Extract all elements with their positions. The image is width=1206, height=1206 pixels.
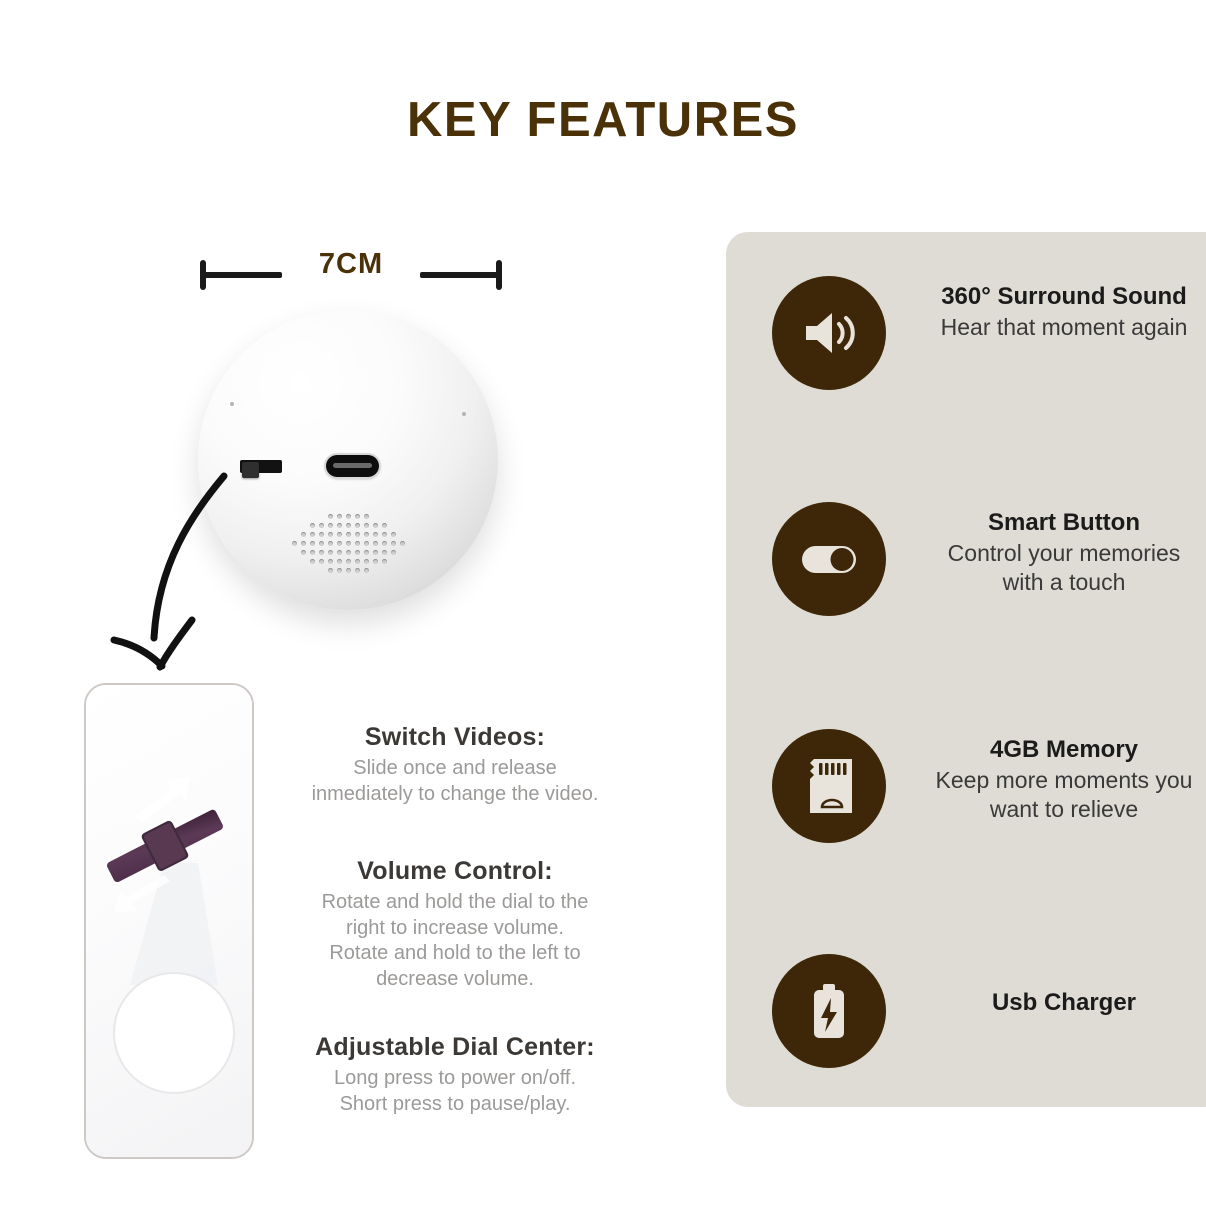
feature-subtitle: Hear that moment again [902,313,1206,342]
instruction-block-adjustable-dial-center: Adjustable Dial Center: Long press to po… [255,1033,655,1117]
feature-row: 4GB Memory Keep more moments youwant to … [772,729,1206,849]
speaker-grille [290,512,406,574]
feature-title: Usb Charger [902,988,1206,1018]
slider-closeup-photo [84,683,254,1159]
screw-pin-right [462,412,466,416]
speaker-sound-icon [772,276,886,390]
toggle-switch-icon [772,502,886,616]
usb-c-port [326,455,379,477]
instruction-body: Rotate and hold the dial to theright to … [255,890,655,992]
sd-card-icon [772,729,886,843]
dimension-indicator: 7CM [196,248,506,300]
instruction-title: Switch Videos: [255,723,655,752]
page-title: KEY FEATURES [0,92,1206,148]
dimension-cap-right [496,260,502,290]
instruction-block-switch-videos: Switch Videos: Slide once and releaseinm… [255,723,655,807]
feature-title: 4GB Memory [902,735,1206,765]
dimension-bar-left [204,272,282,278]
instruction-body: Slide once and releaseinmediately to cha… [255,756,655,807]
feature-title: Smart Button [902,508,1206,538]
feature-card: 360° Surround Sound Hear that moment aga… [726,232,1206,1107]
instruction-title: Volume Control: [255,857,655,886]
battery-charge-icon [772,954,886,1068]
feature-row: Usb Charger [772,954,1206,1074]
screw-pin-left [230,402,234,406]
feature-subtitle: Control your memorieswith a touch [902,539,1206,597]
instruction-block-volume-control: Volume Control: Rotate and hold the dial… [255,857,655,992]
instruction-title: Adjustable Dial Center: [255,1033,655,1062]
instruction-body: Long press to power on/off.Short press t… [255,1066,655,1117]
feature-row: Smart Button Control your memorieswith a… [772,502,1206,622]
feature-subtitle: Keep more moments youwant to relieve [902,766,1206,824]
feature-row: 360° Surround Sound Hear that moment aga… [772,276,1206,396]
infographic-page: KEY FEATURES 7CM [0,0,1206,1206]
feature-title: 360° Surround Sound [902,282,1206,312]
dimension-bar-right [420,272,498,278]
curved-arrow [96,468,286,676]
